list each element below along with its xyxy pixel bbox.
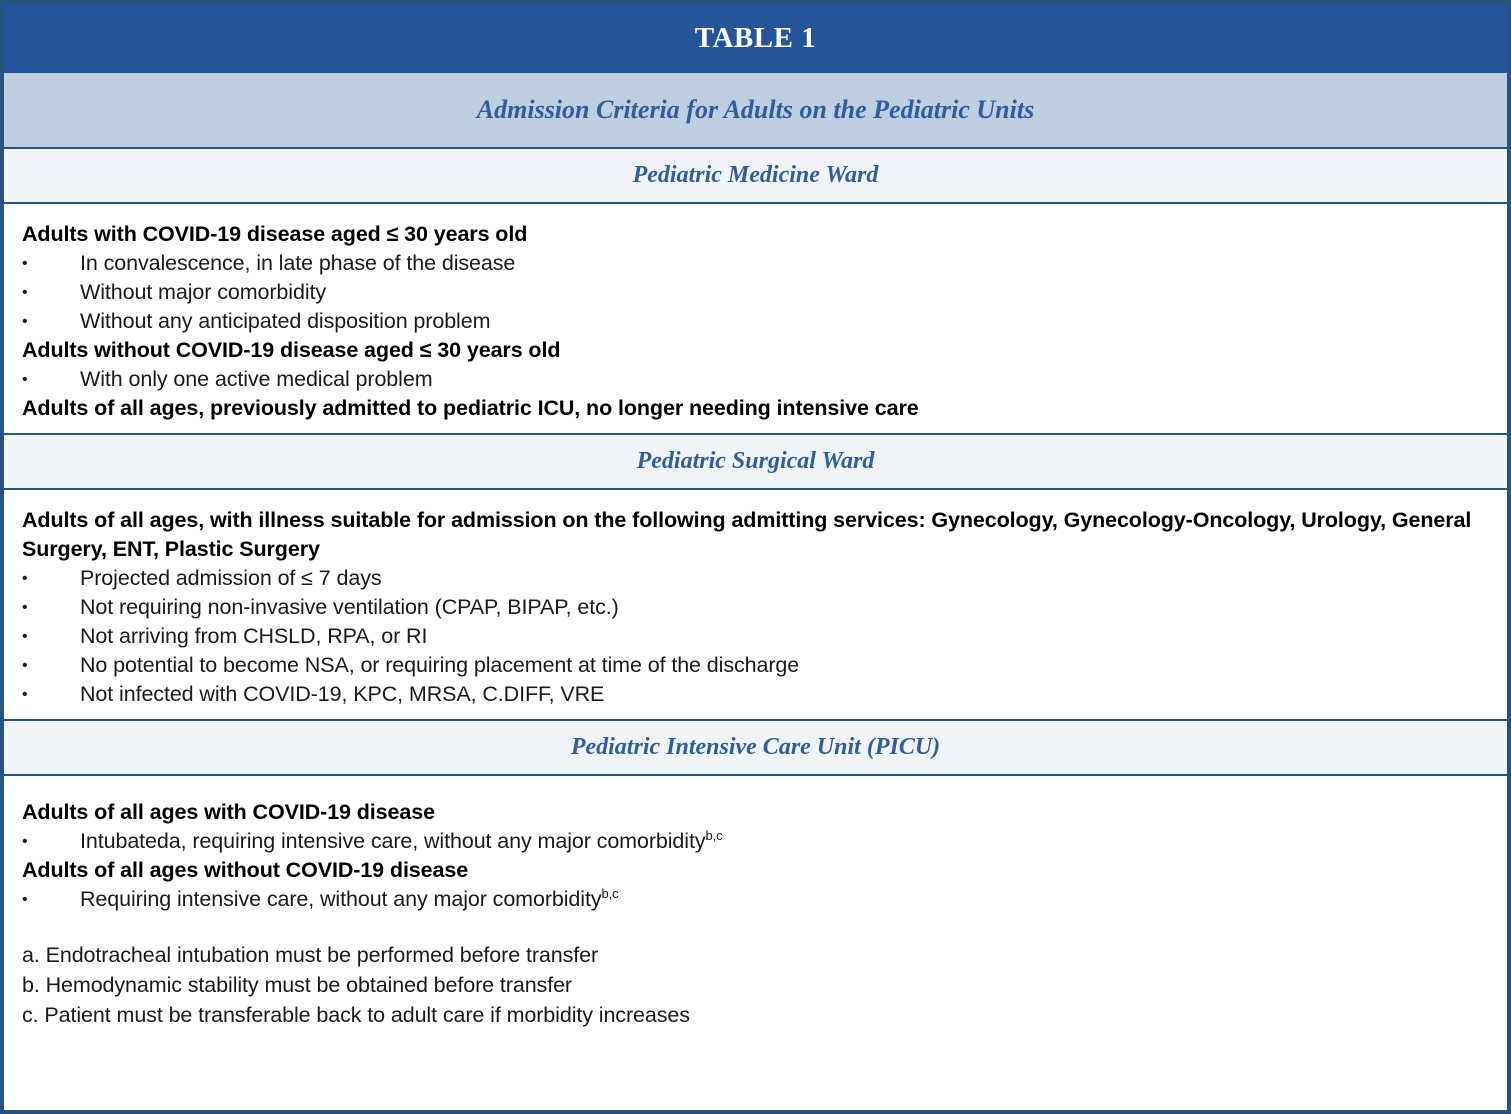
list-item-label: Projected admission of ≤ 7 days	[80, 564, 1497, 593]
footnote-b: b. Hemodynamic stability must be obtaine…	[22, 970, 1497, 1000]
bullet-icon: •	[22, 307, 80, 336]
criteria-heading: Adults of all ages with COVID-19 disease	[14, 798, 1497, 827]
footnote-ref: b,c	[706, 828, 723, 843]
footnote-a: a. Endotracheal intubation must be perfo…	[22, 940, 1497, 970]
bullet-icon: •	[22, 365, 80, 394]
list-item-label: With only one active medical problem	[80, 365, 1497, 394]
list-item-label: No potential to become NSA, or requiring…	[80, 651, 1497, 680]
list-item-label: In convalescence, in late phase of the d…	[80, 249, 1497, 278]
section-body-medicine-ward: Adults with COVID-19 disease aged ≤ 30 y…	[4, 204, 1507, 435]
list-item-label: Without any anticipated disposition prob…	[80, 307, 1497, 336]
list-item: • Not arriving from CHSLD, RPA, or RI	[14, 622, 1497, 651]
section-header-picu: Pediatric Intensive Care Unit (PICU)	[4, 721, 1507, 776]
list-item: • Not infected with COVID-19, KPC, MRSA,…	[14, 680, 1497, 709]
list-item: • Intubateda, requiring intensive care, …	[14, 827, 1497, 856]
table-title-bar: TABLE 1	[4, 4, 1507, 73]
bullet-icon: •	[22, 885, 80, 914]
list-item: • Requiring intensive care, without any …	[14, 885, 1497, 914]
table-subtitle-bar: Admission Criteria for Adults on the Ped…	[4, 73, 1507, 149]
list-item: • No potential to become NSA, or requiri…	[14, 651, 1497, 680]
criteria-heading: Adults with COVID-19 disease aged ≤ 30 y…	[14, 220, 1497, 249]
section-header-surgical-ward: Pediatric Surgical Ward	[4, 435, 1507, 490]
bullet-icon: •	[22, 564, 80, 593]
bullet-icon: •	[22, 249, 80, 278]
bullet-icon: •	[22, 651, 80, 680]
section-body-surgical-ward: Adults of all ages, with illness suitabl…	[4, 490, 1507, 721]
list-item: • Projected admission of ≤ 7 days	[14, 564, 1497, 593]
list-item-label: Intubateda, requiring intensive care, wi…	[80, 827, 1497, 856]
list-item: • Without major comorbidity	[14, 278, 1497, 307]
criteria-heading: Adults of all ages without COVID-19 dise…	[14, 856, 1497, 885]
list-item-label: Not requiring non-invasive ventilation (…	[80, 593, 1497, 622]
list-item-label: Not infected with COVID-19, KPC, MRSA, C…	[80, 680, 1497, 709]
list-item: • In convalescence, in late phase of the…	[14, 249, 1497, 278]
bullet-icon: •	[22, 827, 80, 856]
section-body-picu: Adults of all ages with COVID-19 disease…	[4, 776, 1507, 1110]
table-container: TABLE 1 Admission Criteria for Adults on…	[0, 0, 1511, 1114]
footnotes-block: a. Endotracheal intubation must be perfo…	[14, 940, 1497, 1030]
list-item-label: Not arriving from CHSLD, RPA, or RI	[80, 622, 1497, 651]
list-item: • Not requiring non-invasive ventilation…	[14, 593, 1497, 622]
list-item: • With only one active medical problem	[14, 365, 1497, 394]
list-item-text: Intubateda, requiring intensive care, wi…	[80, 829, 706, 853]
list-item-label: Without major comorbidity	[80, 278, 1497, 307]
list-item-text: Requiring intensive care, without any ma…	[80, 887, 602, 911]
bullet-icon: •	[22, 593, 80, 622]
list-item-label: Requiring intensive care, without any ma…	[80, 885, 1497, 914]
criteria-heading: Adults without COVID-19 disease aged ≤ 3…	[14, 336, 1497, 365]
footnote-ref: b,c	[602, 886, 619, 901]
criteria-heading: Adults of all ages, with illness suitabl…	[14, 506, 1497, 564]
bullet-icon: •	[22, 680, 80, 709]
bullet-icon: •	[22, 278, 80, 307]
section-header-medicine-ward: Pediatric Medicine Ward	[4, 149, 1507, 204]
list-item: • Without any anticipated disposition pr…	[14, 307, 1497, 336]
criteria-heading: Adults of all ages, previously admitted …	[14, 394, 1497, 423]
bullet-icon: •	[22, 622, 80, 651]
footnote-c: c. Patient must be transferable back to …	[22, 1000, 1497, 1030]
